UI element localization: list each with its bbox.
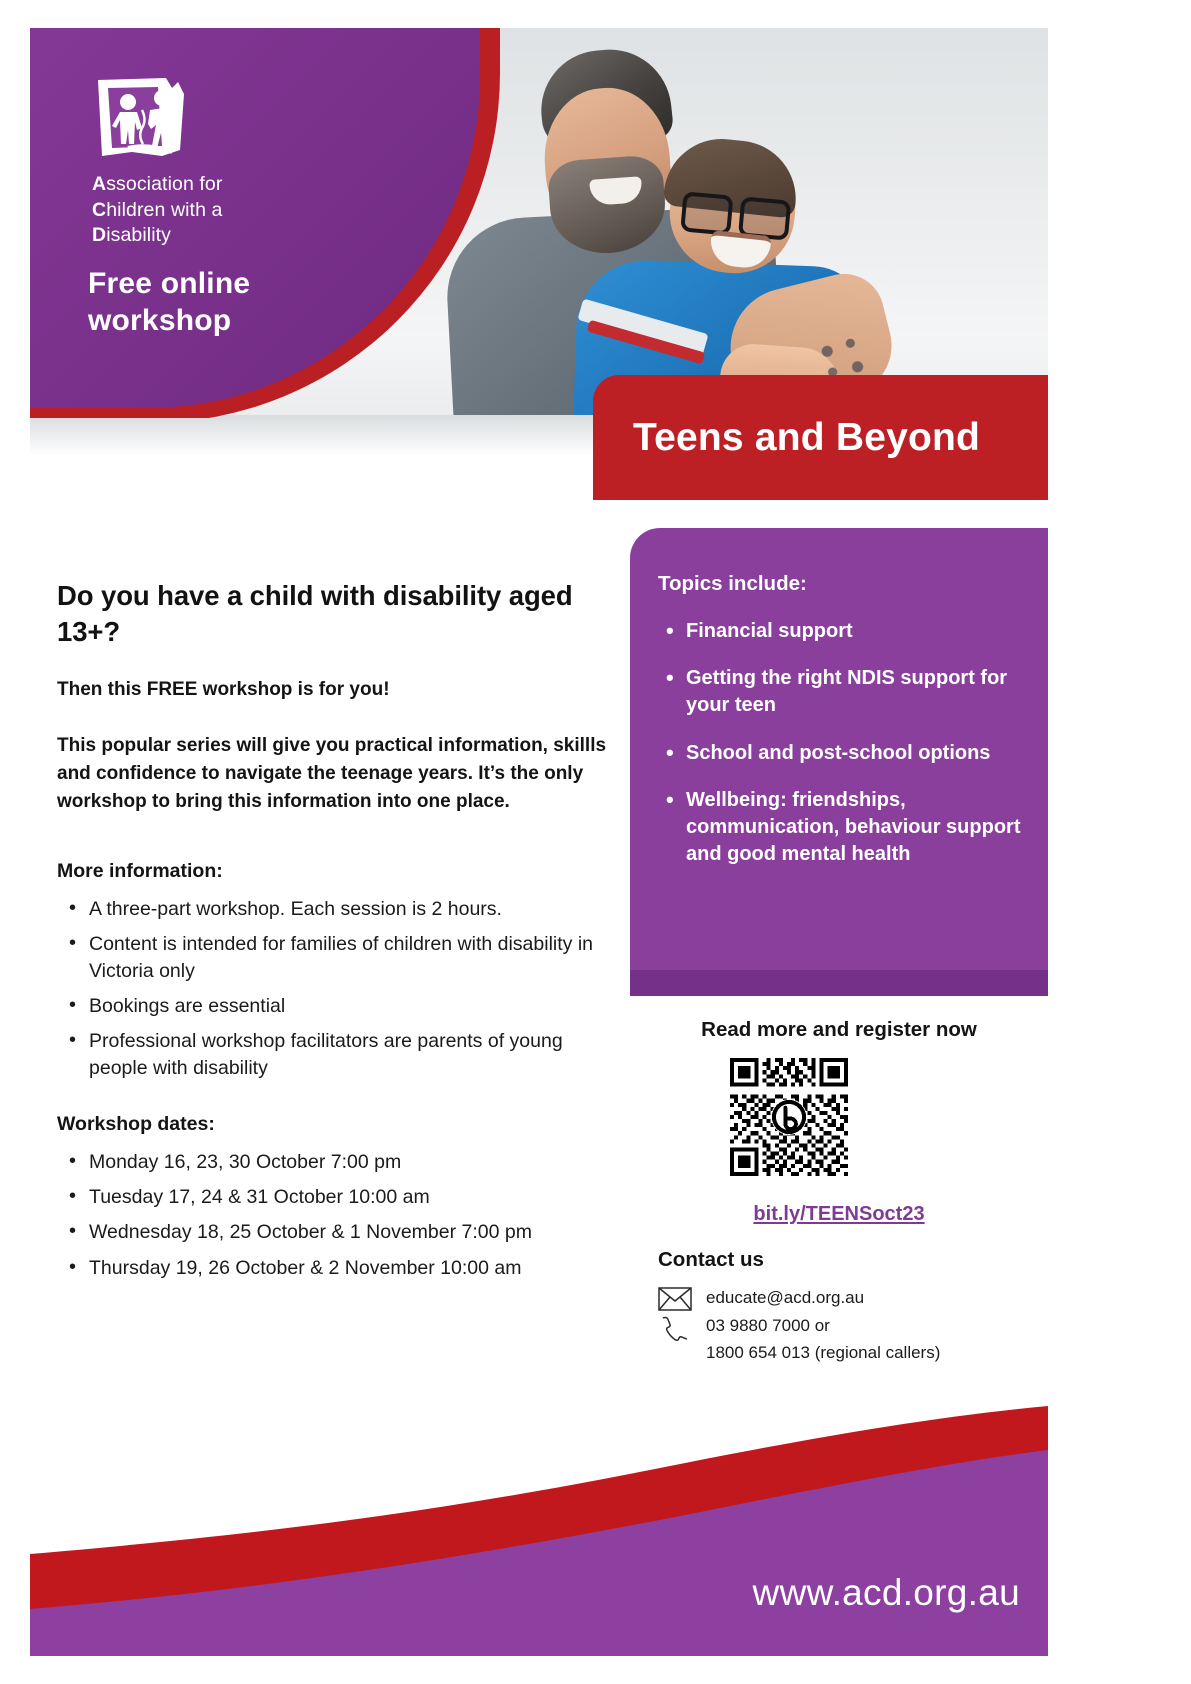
logo-wordmark: Association for Children with a Disabili… xyxy=(92,172,342,249)
topics-heading: Topics include: xyxy=(658,572,1022,596)
main-content-column: Do you have a child with disability aged… xyxy=(57,578,622,1290)
kicker-free-online-workshop: Free online workshop xyxy=(88,266,250,339)
footer-waves xyxy=(30,1404,1048,1656)
list-item: Monday 16, 23, 30 October 7:00 pm xyxy=(57,1149,622,1175)
website-url[interactable]: www.acd.org.au xyxy=(753,1572,1020,1614)
more-information-list: A three-part workshop. Each session is 2… xyxy=(57,896,622,1081)
footer-banner: www.acd.org.au xyxy=(30,1404,1048,1656)
envelope-icon xyxy=(658,1283,706,1311)
topics-panel-footer-strip xyxy=(630,970,1048,996)
logo-line-3: isability xyxy=(106,224,171,246)
list-item: School and post-school options xyxy=(658,740,1022,767)
contact-details: educate@acd.org.au 03 9880 7000 or 1800 … xyxy=(658,1283,1038,1366)
short-link-container: bit.ly/TEENSoct23 xyxy=(630,1203,1048,1226)
short-link[interactable]: bit.ly/TEENSoct23 xyxy=(753,1203,924,1225)
kicker-line-2: workshop xyxy=(88,303,250,340)
list-item: Content is intended for families of chil… xyxy=(57,931,622,984)
lead-text: Then this FREE workshop is for you! xyxy=(57,676,622,704)
title-banner: Teens and Beyond xyxy=(593,375,1048,500)
list-item: Thursday 19, 26 October & 2 November 10:… xyxy=(57,1255,622,1281)
more-information-heading: More information: xyxy=(57,860,622,883)
topics-list: Financial support Getting the right NDIS… xyxy=(658,618,1022,868)
list-item: Getting the right NDIS support for your … xyxy=(658,665,1022,719)
logo-initial-c: C xyxy=(92,199,106,221)
qr-code-icon xyxy=(710,1058,868,1176)
main-heading: Do you have a child with disability aged… xyxy=(57,578,622,650)
logo-initial-d: D xyxy=(92,224,106,246)
body-text: This popular series will give you practi… xyxy=(57,732,622,816)
list-item: Bookings are essential xyxy=(57,993,622,1019)
contact-heading: Contact us xyxy=(658,1248,764,1272)
logo-initial-a: A xyxy=(92,173,106,195)
workshop-dates-list: Monday 16, 23, 30 October 7:00 pm Tuesda… xyxy=(57,1149,622,1281)
list-item: Tuesday 17, 24 & 31 October 10:00 am xyxy=(57,1184,622,1210)
contact-email[interactable]: educate@acd.org.au xyxy=(706,1288,864,1307)
logo-line-2: hildren with a xyxy=(106,199,222,221)
page-title: Teens and Beyond xyxy=(593,416,980,460)
telephone-icon xyxy=(658,1311,706,1349)
list-item: A three-part workshop. Each session is 2… xyxy=(57,896,622,922)
contact-email-row: educate@acd.org.au xyxy=(658,1283,1038,1311)
contact-phone-row: 03 9880 7000 or 1800 654 013 (regional c… xyxy=(658,1311,1038,1366)
qr-code[interactable] xyxy=(710,1058,868,1176)
list-item: Professional workshop facilitators are p… xyxy=(57,1028,622,1081)
contact-phone-regional[interactable]: 1800 654 013 (regional callers) xyxy=(706,1343,940,1362)
logo-line-1: ssociation for xyxy=(106,173,222,195)
flyer-page: Association for Children with a Disabili… xyxy=(0,0,1191,1684)
list-item: Wednesday 18, 25 October & 1 November 7:… xyxy=(57,1219,622,1245)
list-item: Wellbeing: friendships, communication, b… xyxy=(658,787,1022,869)
contact-phone[interactable]: 03 9880 7000 or xyxy=(706,1316,830,1335)
acd-logo-icon xyxy=(92,76,204,162)
organisation-logo: Association for Children with a Disabili… xyxy=(92,76,342,249)
workshop-dates-heading: Workshop dates: xyxy=(57,1113,622,1136)
topics-panel: Topics include: Financial support Gettin… xyxy=(630,528,1048,996)
list-item: Financial support xyxy=(658,618,1022,645)
kicker-line-1: Free online xyxy=(88,266,250,303)
register-heading: Read more and register now xyxy=(630,1018,1048,1042)
